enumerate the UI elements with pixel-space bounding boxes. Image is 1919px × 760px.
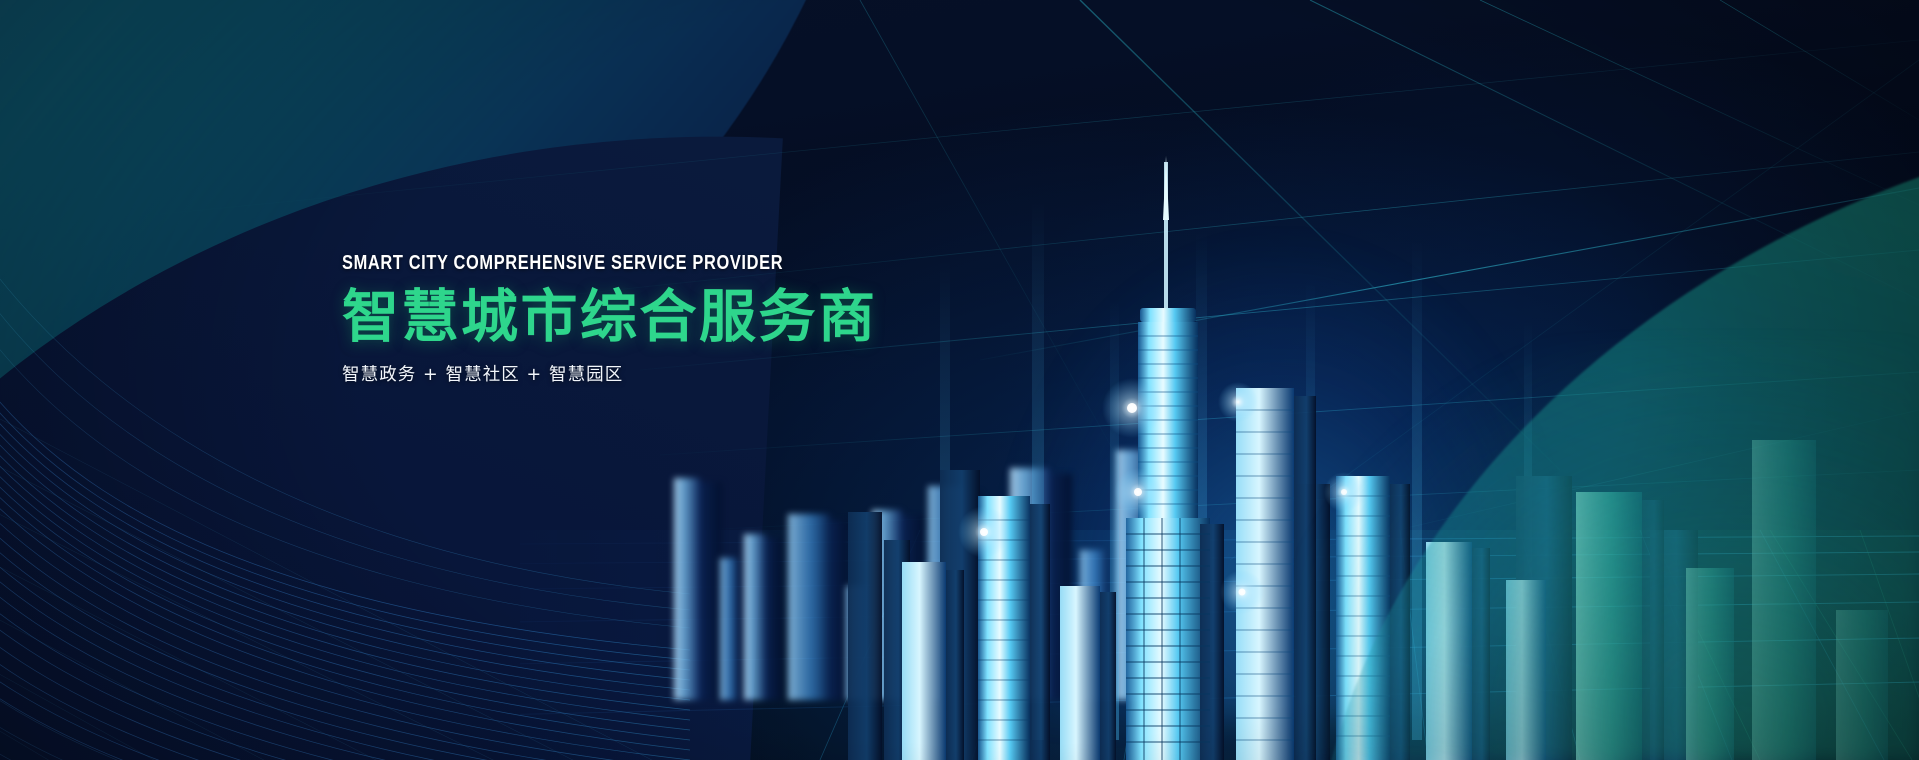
hero-headline: 智慧城市综合服务商: [342, 286, 1062, 350]
hero-banner: SMART CITY COMPREHENSIVE SERVICE PROVIDE…: [0, 0, 1919, 760]
hero-subline: 智慧政务 + 智慧社区 + 智慧园区: [342, 361, 1062, 386]
right-green-haze: [1299, 340, 1919, 760]
hero-eyebrow: SMART CITY COMPREHENSIVE SERVICE PROVIDE…: [342, 252, 918, 275]
hero-copy: SMART CITY COMPREHENSIVE SERVICE PROVIDE…: [342, 252, 1062, 386]
